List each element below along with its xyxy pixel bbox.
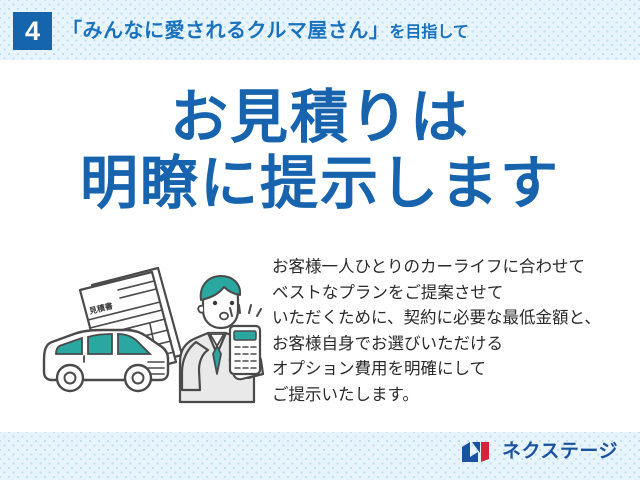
salesman-mouth (220, 313, 228, 320)
content-panel: お見積りは 明瞭に提示します お客様一人ひとりのカーライフに合わせて ベストなプ… (0, 62, 640, 432)
body-paragraph: お客様一人ひとりのカーライフに合わせて ベストなプランをご提案させて いただくた… (272, 254, 622, 407)
body-line: いただくために、契約に必要な最低金額と、 (272, 305, 622, 331)
promo-slide: 4 「みんなに愛されるクルマ屋さん」を目指して お見積りは 明瞭に提示します お… (0, 0, 640, 480)
brand-logo: ネクステージ (461, 440, 618, 464)
body-line: ベストなプランをご提案させて (272, 280, 622, 306)
body-line: お客様自身でお選びいただける (272, 331, 622, 357)
van-illustration (44, 330, 168, 391)
body-line: オプション費用を明確にして (272, 356, 622, 382)
calculator-display (234, 331, 256, 340)
salesman-eye (213, 301, 217, 305)
illustration-svg: 見積書 (30, 250, 270, 415)
nextage-n-mark-icon (461, 440, 495, 464)
headline-line-1: お見積りは (0, 84, 640, 150)
body-line: ご提示いたします。 (272, 382, 622, 408)
van-window (88, 334, 112, 354)
body-line: お客様一人ひとりのカーライフに合わせて (272, 254, 622, 280)
header-title-suffix: を目指して (389, 24, 469, 41)
illustration: 見積書 (30, 250, 270, 415)
salesman-eye (230, 301, 234, 305)
header-band: 4 「みんなに愛されるクルマ屋さん」を目指して (0, 0, 640, 62)
header-title-main: 「みんなに愛されるクルマ屋さん」 (62, 20, 389, 42)
section-number-badge: 4 (13, 12, 52, 50)
header-title: 「みんなに愛されるクルマ屋さん」を目指して (62, 14, 469, 50)
headline-line-2: 明瞭に提示します (0, 150, 640, 216)
footer-band: ネクステージ (0, 432, 640, 480)
brand-name: ネクステージ (502, 440, 618, 464)
headline: お見積りは 明瞭に提示します (0, 84, 640, 216)
